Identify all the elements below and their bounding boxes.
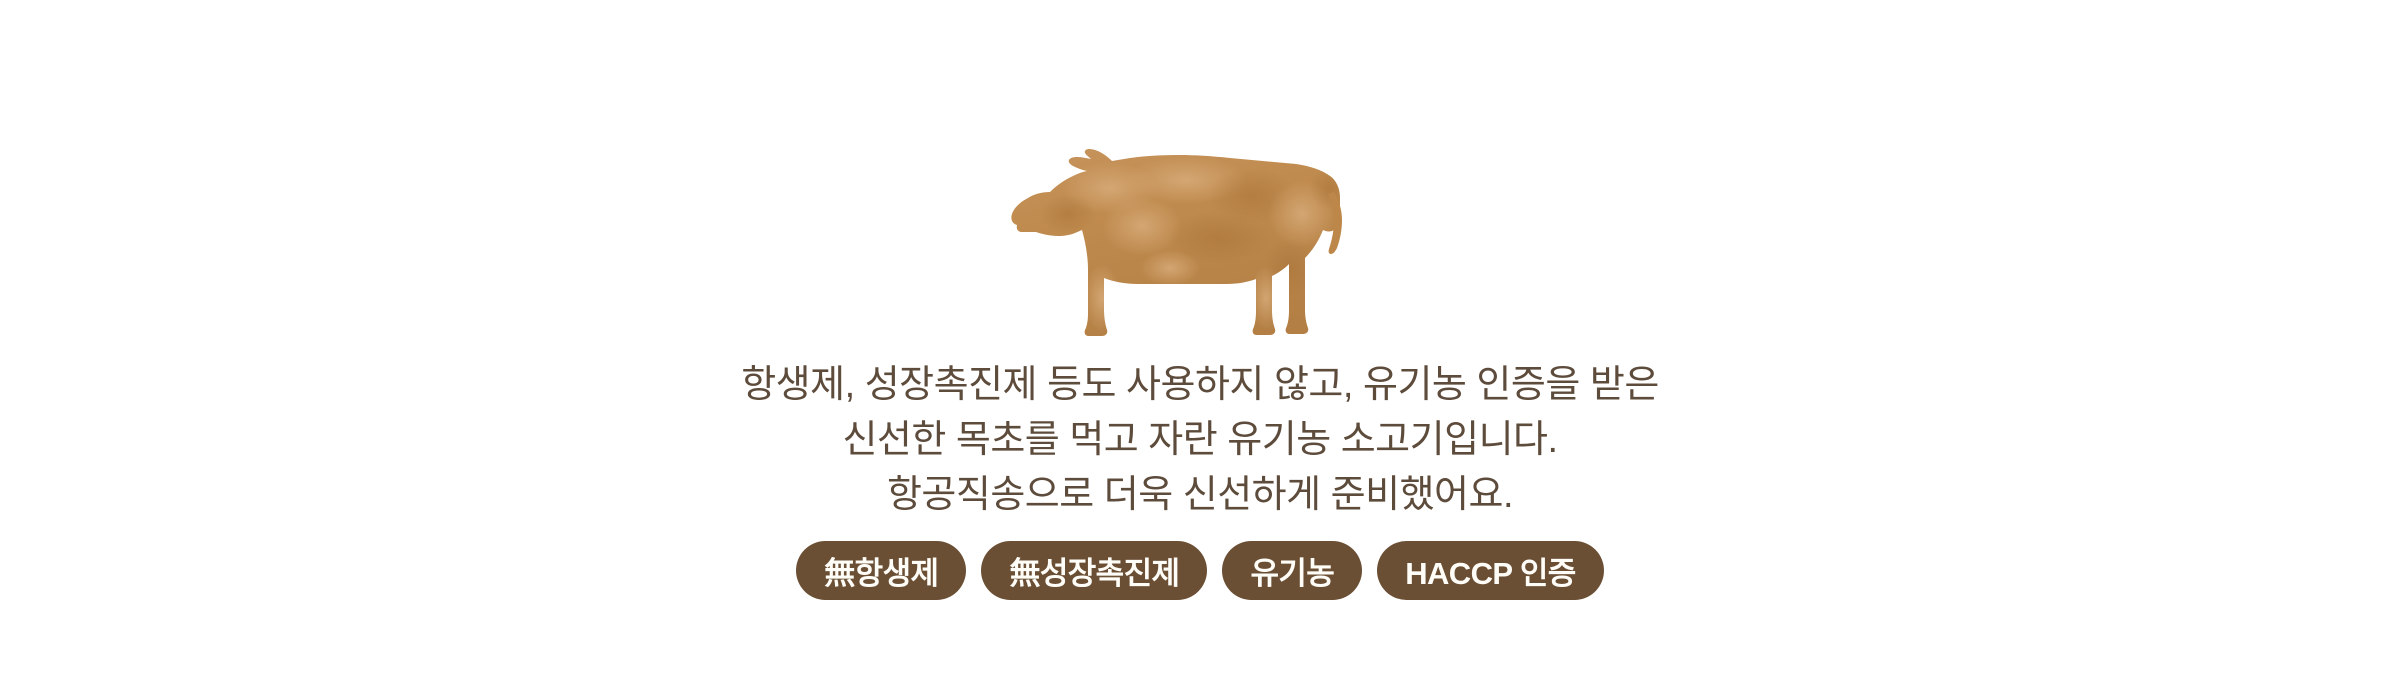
certification-badge-row: 無항생제 無성장촉진제 유기농 HACCP 인증	[0, 541, 2400, 600]
badge-organic[interactable]: 유기농	[1222, 541, 1362, 600]
description-line-3: 항공직송으로 더욱 신선하게 준비했어요.	[0, 468, 2400, 523]
badge-no-growth-promoter[interactable]: 無성장촉진제	[981, 541, 1207, 600]
badge-haccp-certified[interactable]: HACCP 인증	[1377, 541, 1604, 600]
badge-no-antibiotics[interactable]: 無항생제	[796, 541, 966, 600]
description-line-2: 신선한 목초를 먹고 자란 유기농 소고기입니다.	[0, 413, 2400, 468]
organic-beef-promo-banner: 항생제, 성장촉진제 등도 사용하지 않고, 유기농 인증을 받은 신선한 목초…	[0, 0, 2400, 689]
cow-silhouette-icon	[990, 118, 1410, 350]
description-block: 항생제, 성장촉진제 등도 사용하지 않고, 유기농 인증을 받은 신선한 목초…	[0, 358, 2400, 523]
description-line-1: 항생제, 성장촉진제 등도 사용하지 않고, 유기농 인증을 받은	[0, 358, 2400, 413]
